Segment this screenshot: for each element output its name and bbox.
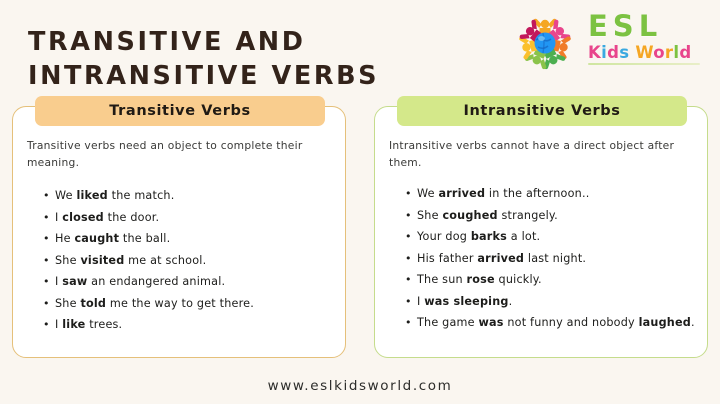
sentence-text: the ball. <box>119 232 170 245</box>
logo-tagline-letter: s <box>619 43 629 62</box>
logo-wordmark: ESL Kids World <box>588 10 706 65</box>
verb-highlight: like <box>62 318 85 331</box>
sentence-text: We <box>417 187 438 200</box>
verb-highlight: laughed <box>639 316 691 329</box>
verb-panels: Transitive Verbs Transitive verbs need a… <box>0 98 720 360</box>
example-sentence-item: I closed the door. <box>43 207 339 229</box>
verb-highlight: told <box>80 297 106 310</box>
logo-tagline-letter: K <box>588 43 601 62</box>
intransitive-verbs-card: Intransitive Verbs Intransitive verbs ca… <box>374 106 708 358</box>
transitive-examples-list: We liked the match.I closed the door.He … <box>43 185 339 336</box>
sentence-text: The game <box>417 316 478 329</box>
page-title-line-1: Transitive and <box>28 27 306 57</box>
example-sentence-item: I saw an endangered animal. <box>43 271 339 293</box>
transitive-card-intro: Transitive verbs need an object to compl… <box>27 137 327 171</box>
example-sentence-item: The game was not funny and nobody laughe… <box>405 312 701 334</box>
sentence-text: We <box>55 189 76 202</box>
example-sentence-item: We liked the match. <box>43 185 339 207</box>
example-sentence-item: She coughed strangely. <box>405 205 701 227</box>
transitive-verbs-card: Transitive Verbs Transitive verbs need a… <box>12 106 346 358</box>
verb-highlight: barks <box>471 230 507 243</box>
logo-underline-divider <box>588 63 700 65</box>
logo-tagline-letter: d <box>607 43 619 62</box>
example-sentence-item: She told me the way to get there. <box>43 293 339 315</box>
sentence-text: He <box>55 232 74 245</box>
verb-highlight: closed <box>62 211 104 224</box>
example-sentence-item: He caught the ball. <box>43 228 339 250</box>
sentence-text: . <box>691 316 695 329</box>
sentence-text: strangely. <box>498 209 558 222</box>
sentence-text: quickly. <box>495 273 542 286</box>
page-title: Transitive and Intransitive Verbs <box>28 25 498 93</box>
page-footer: www.eslkidsworld.com <box>0 375 720 394</box>
website-url: www.eslkidsworld.com <box>268 378 453 394</box>
logo-tagline-letter: o <box>653 43 665 62</box>
sentence-text: She <box>55 254 80 267</box>
transitive-card-title: Transitive Verbs <box>109 103 250 119</box>
verb-highlight: caught <box>74 232 119 245</box>
logo-tagline-letter: W <box>635 43 653 62</box>
sentence-text: in the afternoon.. <box>485 187 589 200</box>
sentence-text: me the way to get there. <box>106 297 254 310</box>
verb-highlight: coughed <box>442 209 497 222</box>
verb-highlight: visited <box>80 254 124 267</box>
verb-highlight: arrived <box>438 187 485 200</box>
page-header: Transitive and Intransitive Verbs <box>0 0 720 88</box>
example-sentence-item: The sun rose quickly. <box>405 269 701 291</box>
logo-brand-text: ESL <box>588 10 706 42</box>
verb-highlight: was sleeping <box>424 295 508 308</box>
sentence-text: trees. <box>85 318 122 331</box>
logo-tagline: Kids World <box>588 43 706 62</box>
example-sentence-item: We arrived in the afternoon.. <box>405 183 701 205</box>
logo-tagline-letter: d <box>679 43 691 62</box>
intransitive-card-title: Intransitive Verbs <box>464 103 621 119</box>
sentence-text: me at school. <box>124 254 206 267</box>
verb-highlight: rose <box>467 273 495 286</box>
transitive-card-header: Transitive Verbs <box>35 96 325 126</box>
intransitive-card-intro: Intransitive verbs cannot have a direct … <box>389 137 689 171</box>
verb-highlight: saw <box>62 275 87 288</box>
sentence-text: a lot. <box>507 230 540 243</box>
page-title-line-2: Intransitive Verbs <box>28 59 498 93</box>
example-sentence-item: His father arrived last night. <box>405 248 701 270</box>
sentence-text: The sun <box>417 273 467 286</box>
globe-people-icon <box>508 8 582 78</box>
brand-logo: ESL Kids World <box>504 6 708 80</box>
verb-highlight: liked <box>76 189 107 202</box>
example-sentence-item: I like trees. <box>43 314 339 336</box>
sentence-text: She <box>417 209 442 222</box>
sentence-text: the door. <box>104 211 159 224</box>
example-sentence-item: I was sleeping. <box>405 291 701 313</box>
sentence-text: Your dog <box>417 230 471 243</box>
verb-highlight: arrived <box>477 252 524 265</box>
sentence-text: the match. <box>108 189 175 202</box>
example-sentence-item: She visited me at school. <box>43 250 339 272</box>
sentence-text: . <box>509 295 513 308</box>
sentence-text: last night. <box>524 252 586 265</box>
intransitive-examples-list: We arrived in the afternoon..She coughed… <box>405 183 701 334</box>
sentence-text: His father <box>417 252 477 265</box>
sentence-text: She <box>55 297 80 310</box>
sentence-text: an endangered animal. <box>87 275 225 288</box>
verb-highlight: was <box>478 316 503 329</box>
sentence-text: not funny and nobody <box>504 316 639 329</box>
example-sentence-item: Your dog barks a lot. <box>405 226 701 248</box>
intransitive-card-header: Intransitive Verbs <box>397 96 687 126</box>
